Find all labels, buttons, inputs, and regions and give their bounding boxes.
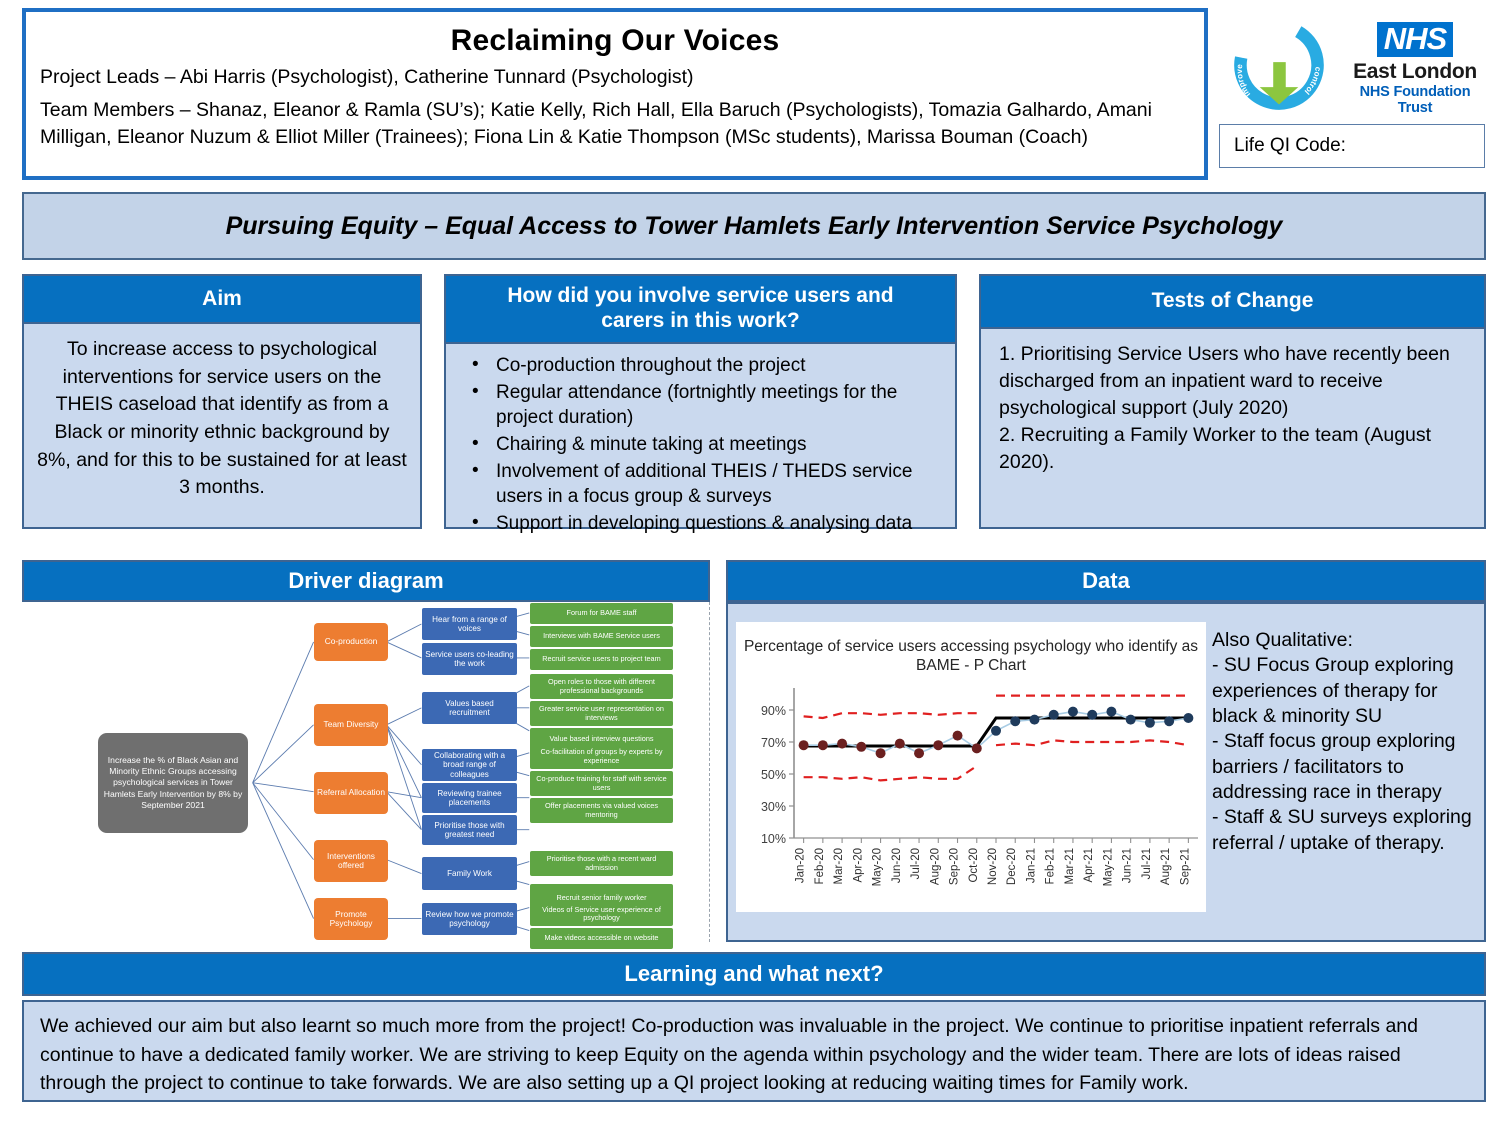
svg-text:Jan-20: Jan-20 — [795, 848, 807, 883]
svg-text:assurance: assurance — [1236, 23, 1270, 59]
team-members-line: Team Members – Shanaz, Eleanor & Ramla (… — [40, 97, 1194, 151]
change-idea-box: Greater service user representation on i… — [530, 701, 673, 726]
change-idea-box: Open roles to those with different profe… — [530, 674, 673, 699]
nhs-badge: NHS — [1377, 22, 1453, 57]
page-title: Reclaiming Our Voices — [26, 24, 1204, 58]
trust-name: East London — [1344, 60, 1486, 84]
aim-card: Aim To increase access to psychological … — [22, 274, 422, 529]
secondary-driver-box: Values based recruitment — [422, 692, 517, 724]
data-panel: Percentage of service users accessing ps… — [726, 602, 1486, 942]
list-item: - Staff focus group exploring barriers /… — [1212, 729, 1480, 805]
trust-subtitle: NHS Foundation Trust — [1344, 84, 1486, 116]
change-idea-box: Forum for BAME staff — [530, 603, 673, 624]
list-item: Co-production throughout the project — [458, 353, 945, 379]
change-idea-box: Offer placements via valued voices mento… — [530, 798, 673, 823]
primary-driver-box: Interventions offered — [314, 840, 388, 882]
qualitative-notes: Also Qualitative: - SU Focus Group explo… — [1212, 628, 1480, 856]
project-leads-line: Project Leads – Abi Harris (Psychologist… — [40, 64, 1194, 91]
secondary-driver-box: Hear from a range of voices — [422, 608, 517, 640]
primary-driver-box: Co-production — [314, 623, 388, 661]
learning-body: We achieved our aim but also learnt so m… — [22, 1000, 1486, 1102]
qi-cycle-icon: assurance control improvement — [1226, 12, 1332, 118]
data-heading: Data — [726, 560, 1486, 602]
list-item: 2. Recruiting a Family Worker to the tea… — [999, 422, 1470, 476]
svg-text:Aug-20: Aug-20 — [929, 848, 941, 885]
tests-of-change-card: Tests of Change 1. Prioritising Service … — [979, 274, 1486, 529]
change-idea-box: Make videos accessible on website — [530, 928, 673, 949]
secondary-driver-box: Review how we promote psychology — [422, 903, 517, 935]
svg-text:Mar-21: Mar-21 — [1064, 848, 1076, 884]
secondary-driver-box: Family Work — [422, 857, 517, 890]
svg-text:Jul-21: Jul-21 — [1141, 848, 1153, 879]
secondary-driver-box: Service users co-leading the work — [422, 643, 517, 675]
list-item: Regular attendance (fortnightly meetings… — [458, 380, 945, 431]
svg-text:May-21: May-21 — [1102, 848, 1114, 886]
involvement-bullet-list: Co-production throughout the project Reg… — [458, 353, 945, 536]
svg-text:Sep-20: Sep-20 — [949, 848, 961, 885]
driver-diagram-panel: Increase the % of Black Asian and Minori… — [22, 602, 710, 942]
svg-text:30%: 30% — [761, 800, 786, 814]
svg-text:Nov-20: Nov-20 — [987, 848, 999, 885]
svg-text:Dec-20: Dec-20 — [1006, 848, 1018, 885]
svg-text:Oct-20: Oct-20 — [968, 848, 980, 883]
change-idea-box: Videos of Service user experience of psy… — [530, 902, 673, 926]
aim-body: To increase access to psychological inte… — [22, 324, 422, 529]
driver-diagram-heading: Driver diagram — [22, 560, 710, 602]
project-subtitle-banner: Pursuing Equity – Equal Access to Tower … — [22, 192, 1486, 260]
primary-driver-box: Referral Allocation — [314, 772, 388, 814]
change-idea-box: Recruit service users to project team — [530, 649, 673, 670]
svg-text:May-20: May-20 — [872, 848, 884, 886]
change-idea-box: Co-produce training for staff with servi… — [530, 771, 673, 796]
poster-canvas: Reclaiming Our Voices Project Leads – Ab… — [0, 0, 1500, 1125]
change-idea-box: Co-facilitation of groups by experts by … — [530, 744, 673, 769]
svg-text:Jun-20: Jun-20 — [891, 848, 903, 883]
primary-driver-box: Promote Psychology — [314, 898, 388, 940]
involvement-heading: How did you involve service users and ca… — [444, 274, 957, 344]
list-item: - SU Focus Group exploring experiences o… — [1212, 653, 1480, 729]
project-subtitle: Pursuing Equity – Equal Access to Tower … — [226, 212, 1283, 241]
secondary-driver-box: Prioritise those with greatest need — [422, 815, 517, 845]
svg-text:Apr-21: Apr-21 — [1083, 848, 1095, 883]
svg-text:70%: 70% — [761, 736, 786, 750]
svg-text:10%: 10% — [761, 832, 786, 846]
list-item: 1. Prioritising Service Users who have r… — [999, 341, 1470, 422]
involvement-card: How did you involve service users and ca… — [444, 274, 957, 529]
involvement-heading-line2: carers in this work? — [601, 309, 799, 334]
nhs-logo: NHS East London NHS Foundation Trust — [1344, 22, 1486, 116]
change-idea-box: Prioritise those with a recent ward admi… — [530, 851, 673, 876]
svg-text:50%: 50% — [761, 768, 786, 782]
tests-of-change-body: 1. Prioritising Service Users who have r… — [979, 329, 1486, 529]
secondary-driver-box: Collaborating with a broad range of coll… — [422, 749, 517, 781]
svg-text:Feb-20: Feb-20 — [814, 848, 826, 884]
svg-text:Jul-20: Jul-20 — [910, 848, 922, 879]
p-chart: Percentage of service users accessing ps… — [736, 622, 1206, 912]
title-block: Reclaiming Our Voices Project Leads – Ab… — [22, 8, 1208, 180]
tests-of-change-heading: Tests of Change — [979, 274, 1486, 329]
svg-text:Jan-21: Jan-21 — [1025, 848, 1037, 883]
primary-driver-box: Team Diversity — [314, 704, 388, 746]
aim-heading: Aim — [22, 274, 422, 324]
list-item: - Staff & SU surveys exploring referral … — [1212, 805, 1480, 856]
involvement-body: Co-production throughout the project Reg… — [444, 344, 957, 529]
involvement-heading-line1: How did you involve service users and — [507, 284, 893, 309]
svg-text:Mar-20: Mar-20 — [833, 848, 845, 884]
svg-text:90%: 90% — [761, 704, 786, 718]
driver-aim-box: Increase the % of Black Asian and Minori… — [98, 733, 248, 833]
svg-text:Jun-21: Jun-21 — [1122, 848, 1134, 883]
list-item: Chairing & minute taking at meetings — [458, 432, 945, 458]
svg-text:Sep-21: Sep-21 — [1179, 848, 1191, 885]
svg-text:Aug-21: Aug-21 — [1160, 848, 1172, 885]
svg-text:Apr-20: Apr-20 — [852, 848, 864, 883]
learning-heading: Learning and what next? — [22, 952, 1486, 996]
list-item: Support in developing questions & analys… — [458, 511, 945, 537]
list-item: Involvement of additional THEIS / THEDS … — [458, 459, 945, 510]
life-qi-code-field[interactable]: Life QI Code: — [1219, 124, 1485, 168]
qualitative-heading: Also Qualitative: — [1212, 628, 1480, 653]
secondary-driver-box: Reviewing trainee placements — [422, 783, 517, 813]
svg-text:Feb-21: Feb-21 — [1045, 848, 1057, 884]
life-qi-code-label: Life QI Code: — [1234, 135, 1346, 157]
chart-plot-area: 10%30%50%70%90%Jan-20Feb-20Mar-20Apr-20M… — [736, 622, 1206, 912]
change-idea-box: Interviews with BAME Service users — [530, 626, 673, 647]
logo-group: assurance control improvement NHS East L… — [1216, 8, 1486, 120]
